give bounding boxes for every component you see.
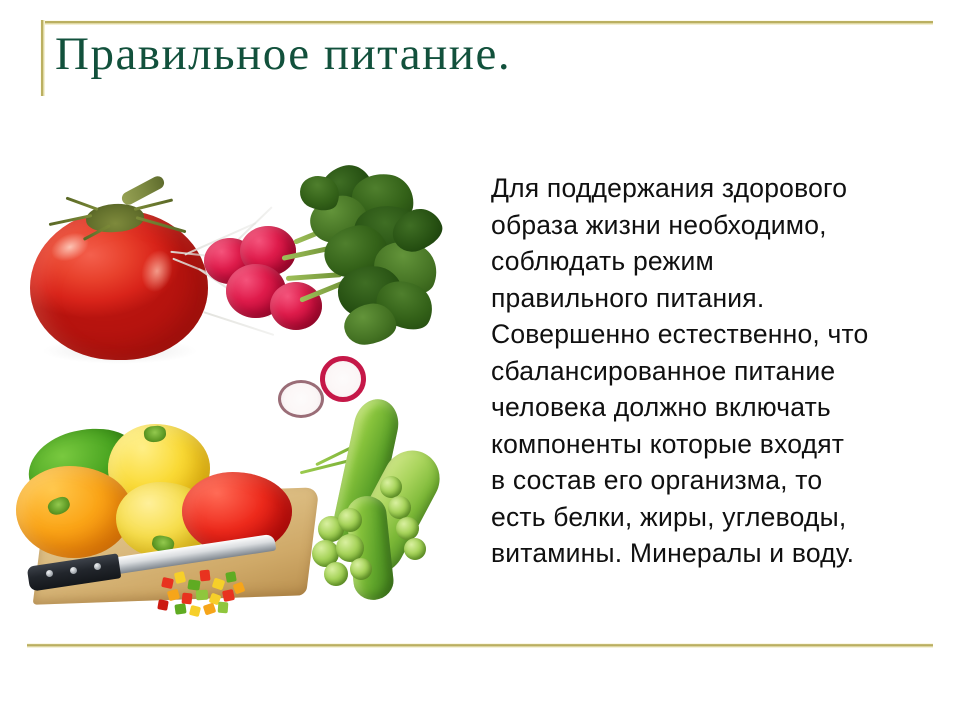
tomato-photo: [24, 178, 214, 363]
bell-peppers-photo: [12, 420, 312, 615]
body-paragraph: Для поддержания здорового образа жизни н…: [491, 170, 923, 572]
pea-pods-photo: [300, 392, 470, 602]
page-title: Правильное питание.: [55, 29, 511, 80]
left-rule: [40, 20, 45, 96]
radish-bunch-photo: [196, 164, 446, 379]
presentation-slide: Правильное питание.: [0, 0, 960, 720]
top-rule: [40, 20, 933, 25]
bottom-rule: [27, 643, 933, 648]
vegetable-collage-image: [0, 130, 480, 630]
